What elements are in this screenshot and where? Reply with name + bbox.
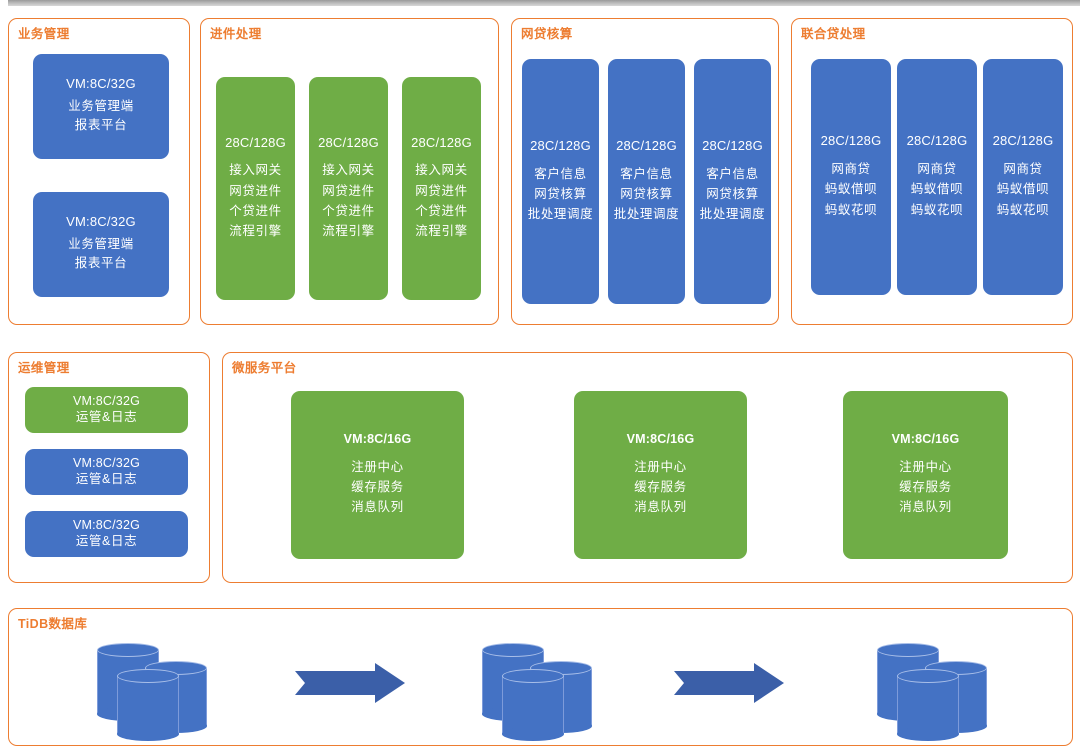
database-cylinder-icon	[897, 669, 959, 741]
node-line: 注册中心	[634, 457, 686, 477]
node-lines: 运管&日志	[76, 471, 137, 488]
node-lines: 接入网关 网贷进件 个贷进件 流程引擎	[229, 160, 281, 241]
node-spec: VM:8C/32G	[73, 456, 140, 470]
node-line: 接入网关	[229, 160, 281, 180]
node-line: 消息队列	[634, 497, 686, 517]
node-line: 报表平台	[68, 254, 134, 273]
node-line: 个贷进件	[229, 201, 281, 221]
node-line: 注册中心	[351, 457, 403, 477]
node-line: 蚂蚁花呗	[825, 200, 877, 220]
node-spec: VM:8C/32G	[66, 215, 136, 230]
node-line: 流程引擎	[322, 221, 374, 241]
node-spec: VM:8C/32G	[66, 77, 136, 92]
node-joint-loan-processing-2[interactable]: 28C/128G 网商贷 蚂蚁借呗 蚂蚁花呗	[897, 59, 977, 295]
node-line: 蚂蚁花呗	[997, 200, 1049, 220]
node-line: 运管&日志	[76, 471, 137, 488]
node-intake-processing-3[interactable]: 28C/128G 接入网关 网贷进件 个贷进件 流程引擎	[402, 77, 481, 300]
panel-intake-processing: 进件处理 28C/128G 接入网关 网贷进件 个贷进件 流程引擎 28C/12…	[200, 18, 499, 325]
node-line: 网商贷	[825, 159, 877, 179]
node-line: 消息队列	[351, 497, 403, 517]
node-ops-management-2[interactable]: VM:8C/32G 运管&日志	[25, 449, 188, 495]
node-line: 缓存服务	[899, 477, 951, 497]
panel-online-loan-accounting: 网贷核算 28C/128G 客户信息 网贷核算 批处理调度 28C/128G 客…	[511, 18, 779, 325]
node-line: 蚂蚁借呗	[911, 179, 963, 199]
node-ops-management-1[interactable]: VM:8C/32G 运管&日志	[25, 387, 188, 433]
architecture-diagram: 业务管理 VM:8C/32G 业务管理端 报表平台 VM:8C/32G 业务管理…	[0, 0, 1080, 754]
node-line: 网贷进件	[415, 181, 467, 201]
node-line: 客户信息	[528, 164, 594, 184]
node-line: 接入网关	[415, 160, 467, 180]
node-business-management-1[interactable]: VM:8C/32G 业务管理端 报表平台	[33, 54, 169, 159]
node-lines: 接入网关 网贷进件 个贷进件 流程引擎	[322, 160, 374, 241]
top-gray-strip	[8, 0, 1080, 6]
node-lines: 业务管理端 报表平台	[68, 97, 134, 136]
node-lines: 客户信息 网贷核算 批处理调度	[614, 164, 680, 225]
node-lines: 运管&日志	[76, 409, 137, 426]
node-spec: 28C/128G	[821, 134, 882, 149]
node-spec: VM:8C/32G	[73, 394, 140, 408]
node-line: 运管&日志	[76, 409, 137, 426]
node-line: 流程引擎	[415, 221, 467, 241]
node-line: 蚂蚁借呗	[997, 179, 1049, 199]
node-lines: 注册中心 缓存服务 消息队列	[634, 457, 686, 518]
node-line: 网贷核算	[614, 184, 680, 204]
node-line: 客户信息	[614, 164, 680, 184]
node-spec: VM:8C/16G	[892, 432, 960, 446]
node-joint-loan-processing-3[interactable]: 28C/128G 网商贷 蚂蚁借呗 蚂蚁花呗	[983, 59, 1063, 295]
arrow-right-icon	[295, 663, 405, 703]
node-lines: 业务管理端 报表平台	[68, 235, 134, 274]
panel-title-ops-management: 运维管理	[18, 357, 70, 376]
node-spec: 28C/128G	[318, 136, 379, 151]
panel-title-online-loan-accounting: 网贷核算	[521, 23, 573, 42]
node-joint-loan-processing-1[interactable]: 28C/128G 网商贷 蚂蚁借呗 蚂蚁花呗	[811, 59, 891, 295]
node-lines: 网商贷 蚂蚁借呗 蚂蚁花呗	[911, 159, 963, 220]
panel-ops-management: 运维管理 VM:8C/32G 运管&日志 VM:8C/32G 运管&日志 VM:…	[8, 352, 210, 583]
panel-joint-loan-processing: 联合贷处理 28C/128G 网商贷 蚂蚁借呗 蚂蚁花呗 28C/128G 网商…	[791, 18, 1073, 325]
node-spec: 28C/128G	[411, 136, 472, 151]
node-spec: 28C/128G	[702, 139, 763, 154]
node-lines: 运管&日志	[76, 533, 137, 550]
node-lines: 客户信息 网贷核算 批处理调度	[700, 164, 766, 225]
db-cluster-1[interactable]	[89, 639, 219, 739]
database-cylinder-icon	[502, 669, 564, 741]
panel-title-business-management: 业务管理	[18, 23, 70, 42]
db-cluster-2[interactable]	[474, 639, 604, 739]
node-line: 网贷核算	[700, 184, 766, 204]
node-line: 运管&日志	[76, 533, 137, 550]
node-line: 消息队列	[899, 497, 951, 517]
node-line: 个贷进件	[415, 201, 467, 221]
node-spec: 28C/128G	[616, 139, 677, 154]
arrow-right-icon	[674, 663, 784, 703]
node-line: 网贷进件	[229, 181, 281, 201]
node-line: 接入网关	[322, 160, 374, 180]
panel-tidb-database: TiDB数据库	[8, 608, 1073, 746]
node-online-loan-accounting-2[interactable]: 28C/128G 客户信息 网贷核算 批处理调度	[608, 59, 685, 304]
arrow-2-right-icon	[674, 663, 784, 703]
node-line: 批处理调度	[700, 204, 766, 224]
node-spec: VM:8C/32G	[73, 518, 140, 532]
node-spec: VM:8C/16G	[344, 432, 412, 446]
node-lines: 注册中心 缓存服务 消息队列	[899, 457, 951, 518]
node-line: 网贷进件	[322, 181, 374, 201]
node-ops-management-3[interactable]: VM:8C/32G 运管&日志	[25, 511, 188, 557]
node-line: 网商贷	[997, 159, 1049, 179]
node-line: 缓存服务	[351, 477, 403, 497]
panel-title-joint-loan-processing: 联合贷处理	[801, 23, 866, 42]
db-cluster-3[interactable]	[869, 639, 999, 739]
panel-microservice-platform: 微服务平台 VM:8C/16G 注册中心 缓存服务 消息队列 VM:8C/16G…	[222, 352, 1073, 583]
node-line: 网商贷	[911, 159, 963, 179]
panel-title-tidb-database: TiDB数据库	[18, 613, 87, 632]
database-cylinder-icon	[117, 669, 179, 741]
node-line: 蚂蚁借呗	[825, 179, 877, 199]
node-intake-processing-1[interactable]: 28C/128G 接入网关 网贷进件 个贷进件 流程引擎	[216, 77, 295, 300]
node-line: 批处理调度	[614, 204, 680, 224]
node-microservice-platform-3[interactable]: VM:8C/16G 注册中心 缓存服务 消息队列	[843, 391, 1008, 559]
node-business-management-2[interactable]: VM:8C/32G 业务管理端 报表平台	[33, 192, 169, 297]
node-lines: 网商贷 蚂蚁借呗 蚂蚁花呗	[997, 159, 1049, 220]
node-spec: VM:8C/16G	[627, 432, 695, 446]
node-line: 业务管理端	[68, 97, 134, 116]
node-line: 报表平台	[68, 116, 134, 135]
node-line: 蚂蚁花呗	[911, 200, 963, 220]
node-spec: 28C/128G	[225, 136, 286, 151]
node-lines: 接入网关 网贷进件 个贷进件 流程引擎	[415, 160, 467, 241]
node-line: 批处理调度	[528, 204, 594, 224]
node-intake-processing-2[interactable]: 28C/128G 接入网关 网贷进件 个贷进件 流程引擎	[309, 77, 388, 300]
node-line: 个贷进件	[322, 201, 374, 221]
node-line: 缓存服务	[634, 477, 686, 497]
node-lines: 注册中心 缓存服务 消息队列	[351, 457, 403, 518]
node-line: 注册中心	[899, 457, 951, 477]
node-line: 网贷核算	[528, 184, 594, 204]
node-spec: 28C/128G	[530, 139, 591, 154]
node-online-loan-accounting-1[interactable]: 28C/128G 客户信息 网贷核算 批处理调度	[522, 59, 599, 304]
node-line: 客户信息	[700, 164, 766, 184]
node-line: 流程引擎	[229, 221, 281, 241]
panel-business-management: 业务管理 VM:8C/32G 业务管理端 报表平台 VM:8C/32G 业务管理…	[8, 18, 190, 325]
panel-title-intake-processing: 进件处理	[210, 23, 262, 42]
node-lines: 客户信息 网贷核算 批处理调度	[528, 164, 594, 225]
node-spec: 28C/128G	[993, 134, 1054, 149]
node-microservice-platform-1[interactable]: VM:8C/16G 注册中心 缓存服务 消息队列	[291, 391, 464, 559]
node-online-loan-accounting-3[interactable]: 28C/128G 客户信息 网贷核算 批处理调度	[694, 59, 771, 304]
panel-title-microservice-platform: 微服务平台	[232, 357, 297, 376]
node-microservice-platform-2[interactable]: VM:8C/16G 注册中心 缓存服务 消息队列	[574, 391, 747, 559]
arrow-1-right-icon	[295, 663, 405, 703]
node-lines: 网商贷 蚂蚁借呗 蚂蚁花呗	[825, 159, 877, 220]
node-spec: 28C/128G	[907, 134, 968, 149]
node-line: 业务管理端	[68, 235, 134, 254]
